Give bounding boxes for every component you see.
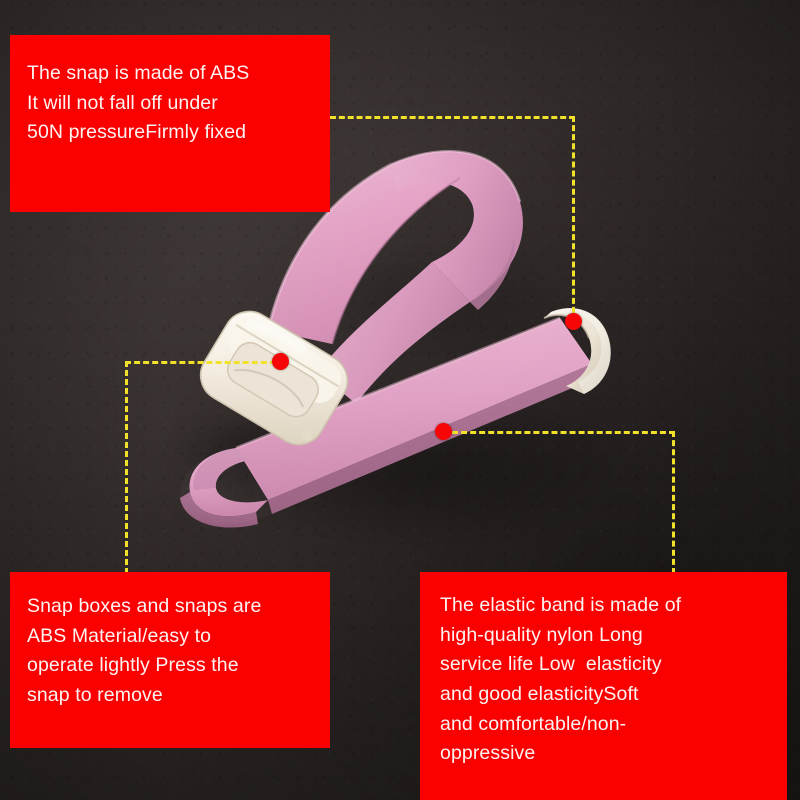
callout-line: service life Low elasticity — [440, 650, 787, 680]
connector-bottom-left-horizontal — [125, 361, 285, 364]
connector-top-left-horizontal — [330, 116, 575, 119]
snap-material-callout: The snap is made of ABS It will not fall… — [10, 35, 330, 212]
callout-line: and comfortable/non- — [440, 710, 787, 740]
callout-line: ABS Material/easy to — [27, 622, 330, 652]
callout-line: operate lightly Press the — [27, 651, 330, 681]
callout-line: The elastic band is made of — [440, 591, 787, 621]
infographic-canvas: The snap is made of ABS It will not fall… — [0, 0, 800, 800]
buckle-marker[interactable] — [272, 353, 289, 370]
connector-bottom-left-vertical — [125, 361, 128, 574]
elastic-band-marker[interactable] — [435, 423, 452, 440]
elastic-band-material-callout: The elastic band is made of high-quality… — [420, 572, 787, 800]
callout-line: and good elasticitySoft — [440, 680, 787, 710]
callout-line: It will not fall off under — [27, 89, 330, 119]
connector-bottom-right-horizontal — [443, 431, 675, 434]
callout-line: high-quality nylon Long — [440, 621, 787, 651]
callout-line: snap to remove — [27, 681, 330, 711]
connector-top-left-vertical — [572, 116, 575, 322]
callout-line: oppressive — [440, 739, 787, 769]
callout-line: The snap is made of ABS — [27, 59, 330, 89]
snap-box-operation-callout: Snap boxes and snaps are ABS Material/ea… — [10, 572, 330, 748]
callout-line: 50N pressureFirmly fixed — [27, 118, 330, 148]
connector-bottom-right-vertical — [672, 431, 675, 574]
callout-line: Snap boxes and snaps are — [27, 592, 330, 622]
band-end-cap-marker[interactable] — [565, 313, 582, 330]
